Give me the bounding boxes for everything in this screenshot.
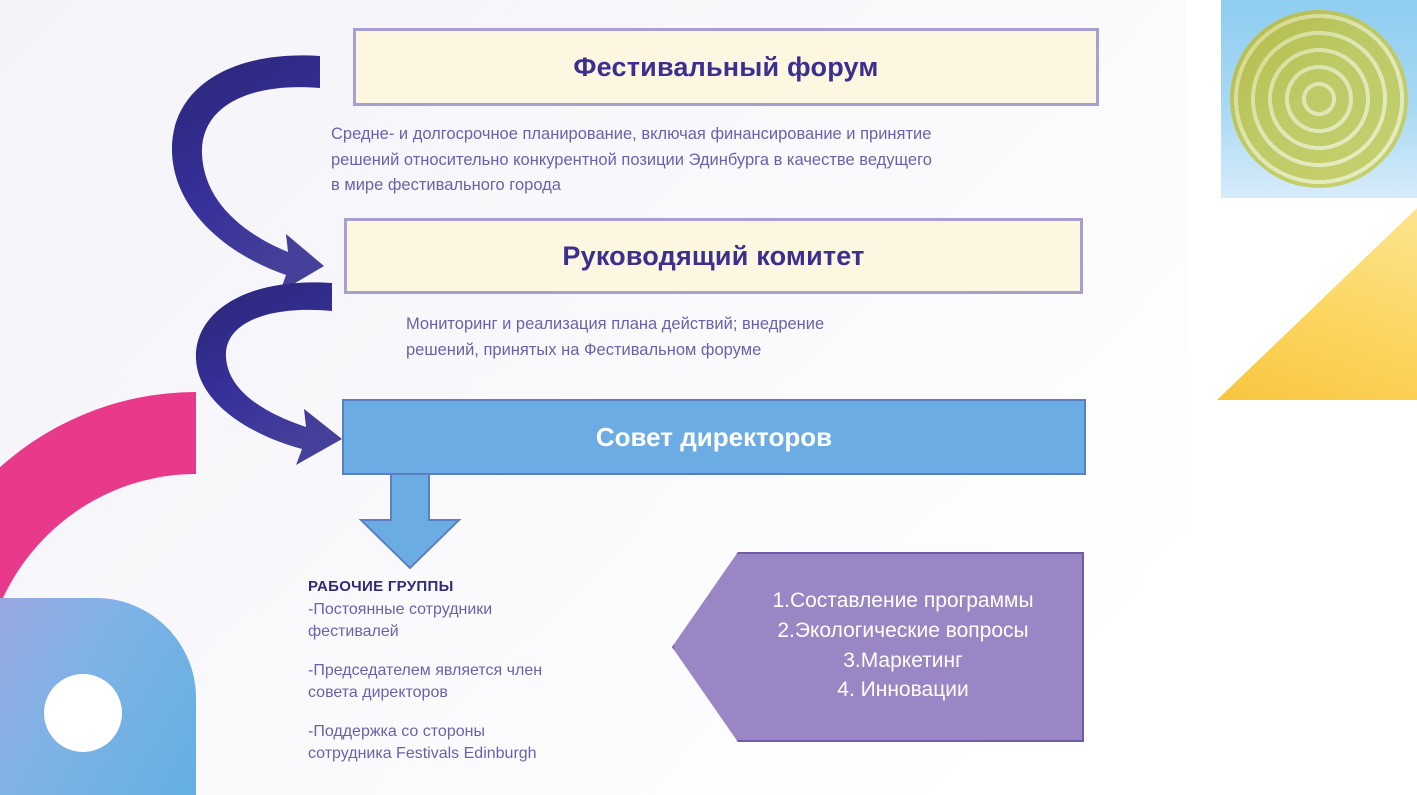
forum-description: Средне- и долгосрочное планирование, вкл… [331,122,1161,199]
arrow-down-icon [355,474,465,570]
curved-arrow-down-right-icon [168,44,328,294]
board-of-directors-box[interactable]: Совет директоров [342,399,1086,475]
workstream-item: 4. Инновации [732,675,1074,705]
forum-box[interactable]: Фестивальный форум [353,28,1099,106]
steering-committee-description: Мониторинг и реализация плана действий; … [406,312,1106,363]
workstreams-list: 1.Составление программы 2.Экологические … [732,586,1074,705]
working-groups-item: -Председателем является член совета дире… [308,660,628,703]
working-groups-block: РАБОЧИЕ ГРУППЫ -Постоянные сотрудники фе… [308,578,628,765]
steering-committee-box[interactable]: Руководящий комитет [344,218,1083,294]
working-groups-item: -Поддержка со стороны сотрудника Festiva… [308,721,628,764]
working-groups-heading: РАБОЧИЕ ГРУППЫ [308,578,628,595]
workstream-item: 2.Экологические вопросы [732,616,1074,646]
blue-square-with-dot-graphic [0,598,196,795]
workstream-item: 3.Маркетинг [732,646,1074,676]
slide-canvas: Фестивальный форум Средне- и долгосрочно… [0,0,1417,795]
forum-title: Фестивальный форум [573,52,878,83]
workstreams-pentagon[interactable]: 1.Составление программы 2.Экологические … [672,552,1084,742]
working-groups-item: -Постоянные сотрудники фестивалей [308,599,628,642]
steering-committee-title: Руководящий комитет [562,241,864,272]
concentric-circles-graphic [1221,0,1417,198]
concentric-rings-tint [1230,10,1408,188]
white-circle-dot [44,674,122,752]
workstream-item: 1.Составление программы [732,586,1074,616]
curved-arrow-down-right-icon [192,275,352,465]
board-of-directors-title: Совет директоров [596,422,832,453]
